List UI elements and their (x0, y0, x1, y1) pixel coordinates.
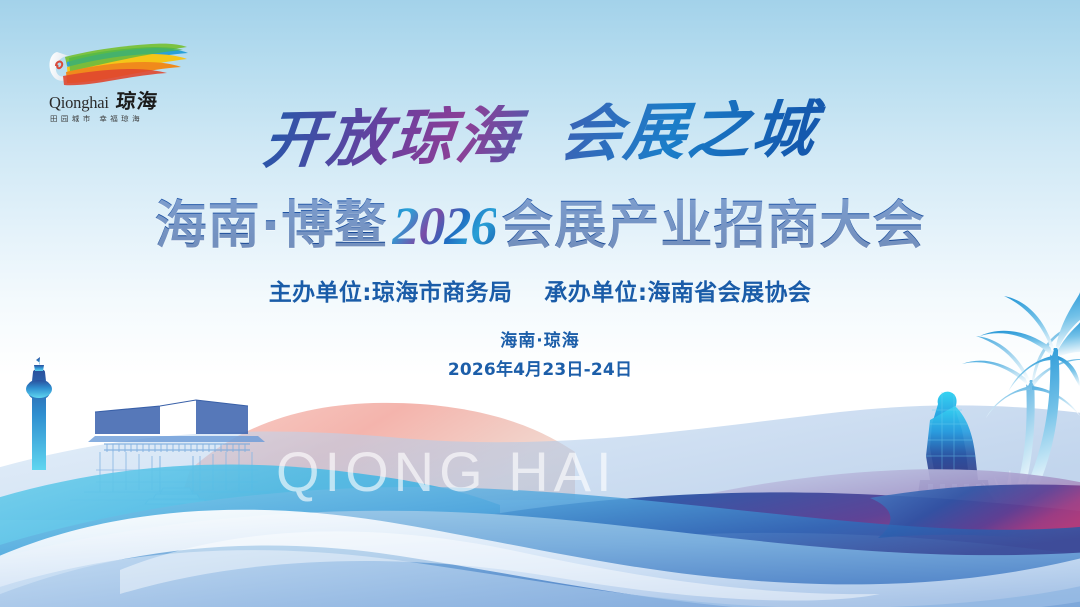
calligraphy-gap (518, 156, 558, 157)
organizers-line: 主办单位:琼海市商务局承办单位:海南省会展协会 (0, 273, 1080, 307)
main-title-prefix: 海南·博鳌 (155, 196, 388, 256)
logo-english-text: Qionghai (49, 95, 109, 112)
event-place: 海南·琼海 (0, 326, 1080, 351)
main-title: 海南·博鳌2026会展产业招商大会 (0, 199, 1080, 253)
logo-ribbon-icon (47, 38, 189, 90)
qionghai-watermark: QIONG HAI (276, 444, 617, 500)
main-title-suffix: 会展产业招商大会 (501, 196, 925, 256)
event-poster-banner: Qionghai 琼海 田园城市 幸福琼海 开放琼海会展之城 海南·博鳌2026… (0, 0, 1080, 607)
host-unit: 主办单位:琼海市商务局 (269, 280, 513, 306)
calligraphy-part-2: 会展之城 (556, 92, 820, 170)
logo-wordmark: Qionghai 琼海 (47, 91, 197, 111)
organizer-unit: 承办单位:海南省会展协会 (544, 280, 811, 306)
logo-chinese-text: 琼海 (115, 91, 159, 111)
event-dates: 2026年4月23日-24日 (0, 355, 1080, 380)
calligraphy-part-1: 开放琼海 (260, 98, 524, 176)
main-title-year: 2026 (392, 196, 496, 256)
